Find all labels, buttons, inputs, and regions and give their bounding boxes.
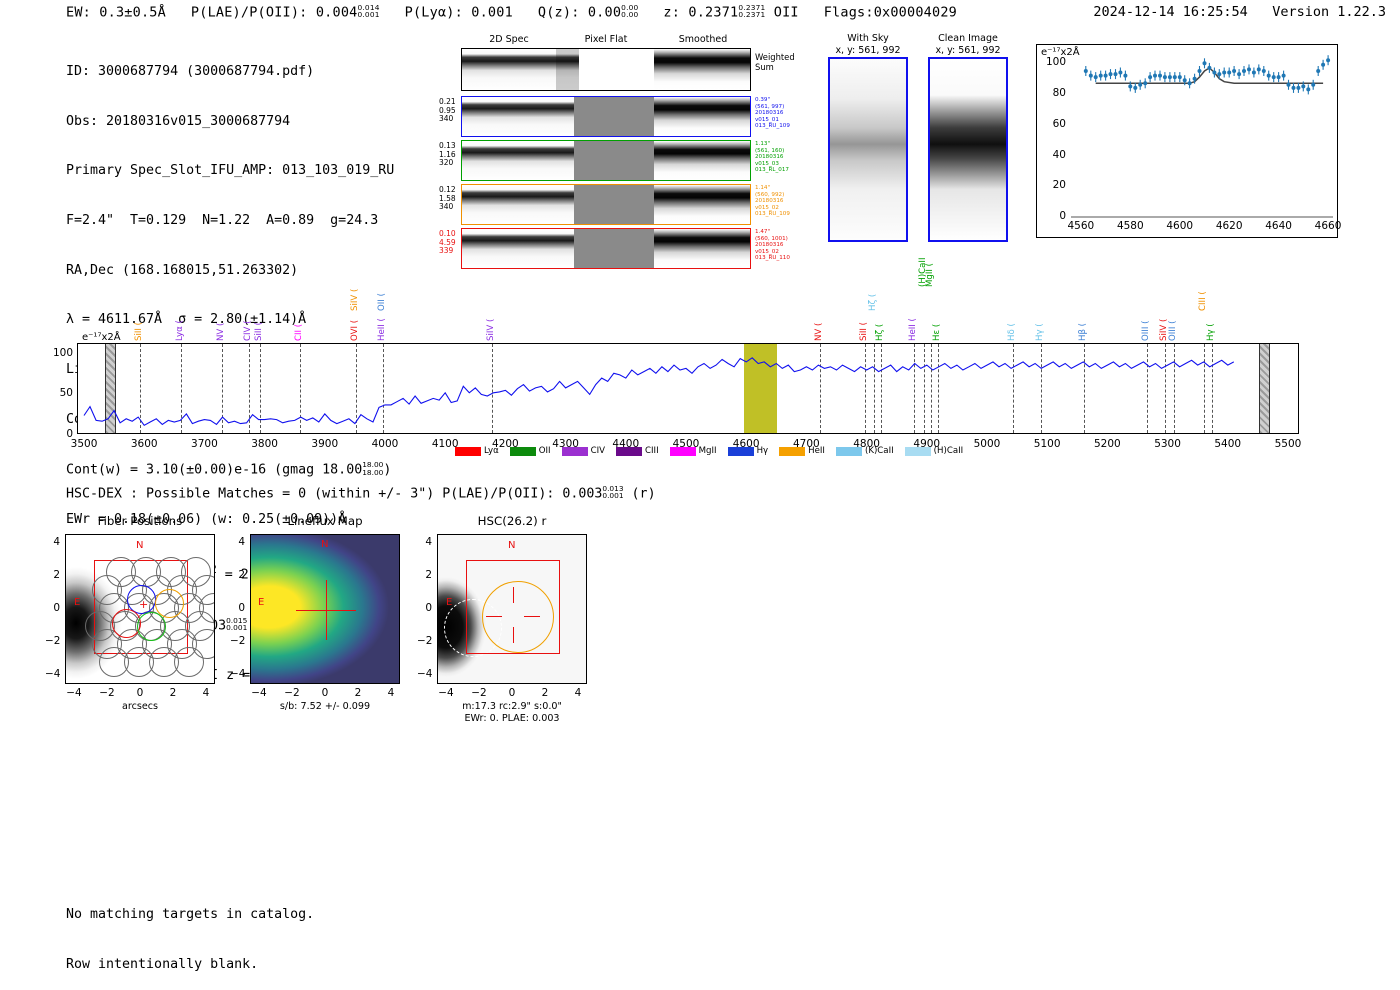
fiber-circle: [174, 647, 204, 677]
info-plae-range-1: 0.0150.001: [226, 617, 247, 632]
full-spectrum-plot: e⁻¹⁷x2Å 050100 3500360037003800390040004…: [77, 343, 1299, 434]
spectrum-xtick: 5100: [1027, 438, 1067, 450]
panel-ytick: 4: [417, 536, 432, 548]
panel-ytick: −4: [230, 668, 245, 680]
cutout-subtitle-with-sky: x, y: 561, 992: [812, 45, 924, 57]
info-gmag-range: 18.0018.00: [362, 461, 383, 476]
panel-ytick: 4: [230, 536, 245, 548]
header-z-range: 0.23710.2371: [738, 4, 765, 19]
col-header-2dspec: 2D Spec: [461, 34, 557, 45]
emission-line-label: (H)CaII: [918, 231, 928, 287]
panel-xtick: 0: [498, 687, 526, 699]
zoom-ytick: 60: [1039, 118, 1066, 130]
hsc-dex-value: 0.003: [562, 486, 602, 501]
zoom-xtick: 4660: [1311, 220, 1345, 232]
weighted-sum-pixelflat: [579, 49, 654, 90]
weighted-sum-2dspec-extra: [556, 49, 579, 90]
header-qz-value: 0.00: [588, 4, 621, 20]
header-version: Version 1.22.3: [1272, 4, 1386, 20]
spectrum-xtick: 3700: [184, 438, 224, 450]
lineflux-map-center-gap: [314, 598, 338, 622]
col-header-pixelflat: Pixel Flat: [558, 34, 654, 45]
fiber-row-2dspec: [462, 141, 574, 180]
spectrum-xtick: 5000: [967, 438, 1007, 450]
weighted-sum-row: [461, 48, 751, 91]
panel-ytick: 0: [230, 602, 245, 614]
spectrum-xtick: 4000: [365, 438, 405, 450]
zoom-ytick: 40: [1039, 149, 1066, 161]
fiber-row-metrics: 0.121.58340: [439, 186, 456, 212]
emission-line-label: NV (: [814, 285, 824, 341]
panel-caption-hsc-image: m:17.3 rc:2.9" s:0.0" EWr: 0. PLAE: 0.00…: [392, 701, 632, 725]
emission-line-label: OIII (: [1168, 285, 1178, 341]
spectrum-xtick: 5500: [1268, 438, 1308, 450]
emission-line-label: OIII (: [1141, 285, 1151, 341]
weighted-sum-label: Weighted Sum: [755, 52, 795, 73]
panel-ytick: −4: [45, 668, 60, 680]
info-radec: RA,Dec (168.168015,51.263302): [66, 263, 394, 280]
panel-xtick: 0: [126, 687, 154, 699]
hsc-image-crosshair-h-right: [524, 616, 540, 617]
hsc-image-crosshair-v-bottom: [513, 627, 514, 643]
cutout-title-with-sky: With Sky: [812, 33, 924, 45]
panel-title-lineflux-map: Lineflux Map: [250, 514, 400, 528]
legend-swatch: [779, 447, 805, 456]
info-primary-spec-slot: Primary Spec_Slot_IFU_AMP: 013_103_019_R…: [66, 163, 394, 180]
emission-line-label: CII (: [294, 285, 304, 341]
fiber-positions-target-marker: +: [139, 599, 148, 610]
cutout-label-clean-image: Clean Image x, y: 561, 992: [912, 33, 1024, 56]
legend-swatch: [562, 447, 588, 456]
fiber-row-identifier: 1.13" (561, 160) 20180316 v015_03 013_RL…: [755, 141, 789, 174]
panel-ytick: −2: [45, 635, 60, 647]
spectrum-xtick: 5400: [1208, 438, 1248, 450]
panel-lineflux-map: Lineflux Map N E 420−2−4 −4−2024 s/b: 7.…: [250, 514, 400, 694]
legend-swatch: [836, 447, 862, 456]
emission-line-label: HeII (: [908, 285, 918, 341]
legend-swatch: [616, 447, 642, 456]
header-timestamp-version: 2024-12-14 16:25:54 Version 1.22.3: [1093, 4, 1386, 20]
panel-xtick: −4: [60, 687, 88, 699]
fiber-row-metrics: 0.131.16320: [439, 142, 456, 168]
panel-title-hsc-image: HSC(26.2) r: [437, 514, 587, 528]
header-qz-label: Q(z):: [538, 4, 580, 20]
emission-line-label: Hε (: [932, 285, 942, 341]
fiber-row-pixelflat: [574, 97, 653, 136]
emission-line-label: Hβ (: [1078, 285, 1088, 341]
header-flags: Flags:0x00004029: [824, 4, 957, 20]
panel-ytick: 4: [45, 536, 60, 548]
header-summary-line: EW: 0.3±0.5Å P(LAE)/P(OII): 0.0040.0140.…: [66, 4, 957, 20]
panel-xtick: 4: [377, 687, 405, 699]
weighted-sum-2dspec: [462, 49, 556, 90]
cutout-subtitle-clean-image: x, y: 561, 992: [912, 45, 1024, 57]
legend-item: (K)CaII: [836, 446, 894, 456]
panel-xtick: −2: [93, 687, 121, 699]
legend-label: (K)CaII: [865, 446, 894, 456]
panel-xtick: −2: [465, 687, 493, 699]
legend-item: CIV: [562, 446, 605, 456]
header-ew: EW: 0.3±0.5Å: [66, 4, 166, 20]
panel-fiber-positions: Fiber Positions N E + 420−2−4 −4−2024 ar…: [65, 514, 215, 694]
legend-label: Hγ: [757, 446, 769, 456]
info-id: ID: 3000687794 (3000687794.pdf): [66, 64, 394, 81]
legend-label: (H)CaII: [934, 446, 964, 456]
info-cont-w: Cont(w) = 3.10(±0.00)e-16 (gmag 18.0018.…: [66, 461, 394, 479]
emission-line-label: Hδ (: [1007, 285, 1017, 341]
fiber-row-pixelflat: [574, 229, 653, 268]
panel-xtick: 0: [311, 687, 339, 699]
legend-label: HeII: [808, 446, 825, 456]
fiber-row-metrics: 0.104.59339: [439, 230, 456, 256]
fiber-row-metric-value: 340: [439, 115, 456, 124]
spectrum-legend: LyαOIICIVCIIIMgIIHγHeII(K)CaII(H)CaII: [455, 446, 963, 456]
fiber-row-metric-value: 339: [439, 247, 456, 256]
fiber-row-smoothed: [654, 185, 750, 224]
fiber-row-smoothed: [654, 229, 750, 268]
info-wavelength-sigma: λ = 4611.67Å σ = 2.80(±1.14)Å: [66, 312, 394, 329]
legend-item: Hγ: [728, 446, 769, 456]
hsc-image-compass-n: N: [508, 540, 515, 551]
fiber-row-metric-value: 320: [439, 159, 456, 168]
panel-xtick: 2: [159, 687, 187, 699]
header-z-label: z:: [663, 4, 680, 20]
zoom-xtick: 4640: [1262, 220, 1296, 232]
lineflux-map-compass-e: E: [258, 597, 264, 608]
panel-hsc-image: HSC(26.2) r N E 420−2−4 −4−2024 m:17.3 r…: [437, 514, 587, 694]
header-qz-range: 0.000.00: [621, 4, 638, 19]
zoom-plot-canvas: [1037, 45, 1339, 239]
spectrum-xtick: 3500: [64, 438, 104, 450]
zoom-ytick: 80: [1039, 87, 1066, 99]
legend-swatch: [670, 447, 696, 456]
legend-item: Lyα: [455, 446, 499, 456]
footer-line-2: Row intentionally blank.: [66, 957, 314, 974]
emission-line-label: SiIV (: [350, 255, 360, 311]
fiber-highlight-green: [137, 612, 166, 641]
line-fit-zoom-plot: e⁻¹⁷x2Å 020406080100 4560458046004620464…: [1036, 44, 1338, 238]
legend-swatch: [455, 447, 481, 456]
header-plae-poii-range: 0.0140.001: [357, 4, 379, 19]
panel-xtick: −2: [278, 687, 306, 699]
hsc-dex-summary: HSC-DEX : Possible Matches = 0 (within +…: [66, 485, 656, 501]
legend-label: Lyα: [484, 446, 499, 456]
spectrum-xtick: 3600: [124, 438, 164, 450]
emission-line-label: Hγ (: [1206, 285, 1216, 341]
lineflux-map-compass-n: N: [321, 539, 328, 550]
panel-xtick: 4: [564, 687, 592, 699]
fiber-row-identifier: 1.47" (560, 1001) 20180316 v015_02 013_R…: [755, 229, 790, 262]
header-z-value: 0.2371: [688, 4, 738, 20]
spectrum-ytick: 100: [44, 347, 73, 359]
zoom-xtick: 4580: [1113, 220, 1147, 232]
lineflux-map-axes: N E: [250, 534, 400, 684]
info-obs: Obs: 20180316v015_3000687794: [66, 114, 394, 131]
spectrum-ytick: 50: [44, 387, 73, 399]
emission-line-label: Lyα (: [175, 285, 185, 341]
panel-ytick: 2: [417, 569, 432, 581]
emission-line-label: SiIV (: [486, 285, 496, 341]
panel-xtick: 2: [344, 687, 372, 699]
cutout-title-clean-image: Clean Image: [912, 33, 1024, 45]
fiber-row-metrics: 0.210.95340: [439, 98, 456, 124]
fiber-row-2dspec: [462, 229, 574, 268]
header-plya-value: 0.001: [471, 4, 513, 20]
emission-line-label: CIV (: [243, 285, 253, 341]
fiber-row-smoothed: [654, 141, 750, 180]
panel-ytick: −2: [230, 635, 245, 647]
legend-swatch: [905, 447, 931, 456]
legend-item: (H)CaII: [905, 446, 964, 456]
legend-label: CIV: [591, 446, 605, 456]
legend-item: OII: [510, 446, 551, 456]
emission-line-label: SiII (: [254, 285, 264, 341]
zoom-xtick: 4560: [1064, 220, 1098, 232]
legend-label: CIII: [645, 446, 659, 456]
fiber-positions-compass-e: E: [74, 597, 80, 608]
panel-ytick: 2: [45, 569, 60, 581]
zoom-ytick: 100: [1039, 56, 1066, 68]
hsc-dex-prefix: HSC-DEX : Possible Matches = 0 (within +…: [66, 486, 562, 501]
legend-item: HeII: [779, 446, 825, 456]
weighted-sum-smoothed: [654, 49, 750, 90]
cutout-clean-image: [928, 57, 1008, 242]
hsc-dex-suffix: (r): [624, 486, 656, 501]
header-datetime: 2024-12-14 16:25:54: [1093, 4, 1247, 20]
header-plae-poii-label: P(LAE)/P(OII):: [191, 4, 308, 20]
cutout-label-with-sky: With Sky x, y: 561, 992: [812, 33, 924, 56]
panel-xtick: 4: [192, 687, 220, 699]
hsc-image-compass-e: E: [446, 597, 452, 608]
zoom-xtick: 4620: [1212, 220, 1246, 232]
spectrum-canvas: [78, 344, 1300, 435]
legend-label: MgII: [699, 446, 717, 456]
hsc-image-axes: N E: [437, 534, 587, 684]
hsc-image-crosshair-v-top: [513, 587, 514, 603]
spectrum-xtick: 3900: [305, 438, 345, 450]
fiber-row-pixelflat: [574, 141, 653, 180]
emission-line-label: OII (: [377, 255, 387, 311]
legend-swatch: [728, 447, 754, 456]
hsc-dex-range: 0.0130.001: [602, 485, 623, 500]
col-header-smoothed: Smoothed: [655, 34, 751, 45]
spectrum-xtick: 5200: [1087, 438, 1127, 450]
emission-line-label: SiII (: [134, 285, 144, 341]
header-plya-label: P(Lyα):: [405, 4, 463, 20]
panel-xtick: 2: [531, 687, 559, 699]
panel-xtick: −4: [245, 687, 273, 699]
panel-ytick: −4: [417, 668, 432, 680]
footer-text-block: No matching targets in catalog. Row inte…: [66, 874, 314, 990]
footer-line-1: No matching targets in catalog.: [66, 907, 314, 924]
fiber-row-smoothed: [654, 97, 750, 136]
fiber-row-metric-value: 340: [439, 203, 456, 212]
panel-ytick: 0: [417, 602, 432, 614]
fiber-positions-compass-n: N: [136, 540, 143, 551]
zoom-xtick: 4600: [1163, 220, 1197, 232]
spectrum-xtick: 5300: [1148, 438, 1188, 450]
cutout-with-sky-image: [828, 57, 908, 242]
panel-xtick: −4: [432, 687, 460, 699]
spectrum-flux-unit: e⁻¹⁷x2Å: [81, 332, 122, 343]
hsc-image-crosshair-h-left: [486, 616, 502, 617]
spectrum-xtick: 3800: [245, 438, 285, 450]
fiber-positions-axes: N E +: [65, 534, 215, 684]
zoom-ytick: 0: [1039, 210, 1066, 222]
fiber-row-pixelflat: [574, 185, 653, 224]
legend-item: MgII: [670, 446, 717, 456]
fiber-row: [461, 184, 751, 225]
fiber-row-2dspec: [462, 185, 574, 224]
panel-ytick: 2: [230, 569, 245, 581]
legend-swatch: [510, 447, 536, 456]
emission-line-label: Hγ (: [1035, 285, 1045, 341]
panel-ytick: 0: [45, 602, 60, 614]
legend-label: OII: [539, 446, 551, 456]
legend-item: CIII: [616, 446, 659, 456]
header-plae-poii-value: 0.004: [316, 4, 358, 20]
panel-title-fiber-positions: Fiber Positions: [65, 514, 215, 528]
info-seeing-throughput: F=2.4" T=0.129 N=1.22 A=0.89 g=24.3: [66, 213, 394, 230]
emission-line-label: NV (: [216, 285, 226, 341]
fiber-row: [461, 96, 751, 137]
fiber-row: [461, 228, 751, 269]
fiber-row-2dspec: [462, 97, 574, 136]
panel-ytick: −2: [417, 635, 432, 647]
fiber-row-identifier: 1.14" (560, 992) 20180316 v015_02 013_RU…: [755, 185, 790, 218]
fiber-row: [461, 140, 751, 181]
header-z-species: OII: [774, 4, 799, 20]
zoom-ytick: 20: [1039, 179, 1066, 191]
fiber-row-identifier: 0.39" (561, 997) 20180316 v015_01 013_RU…: [755, 97, 790, 130]
emission-line-label: Hζ (: [875, 285, 885, 341]
